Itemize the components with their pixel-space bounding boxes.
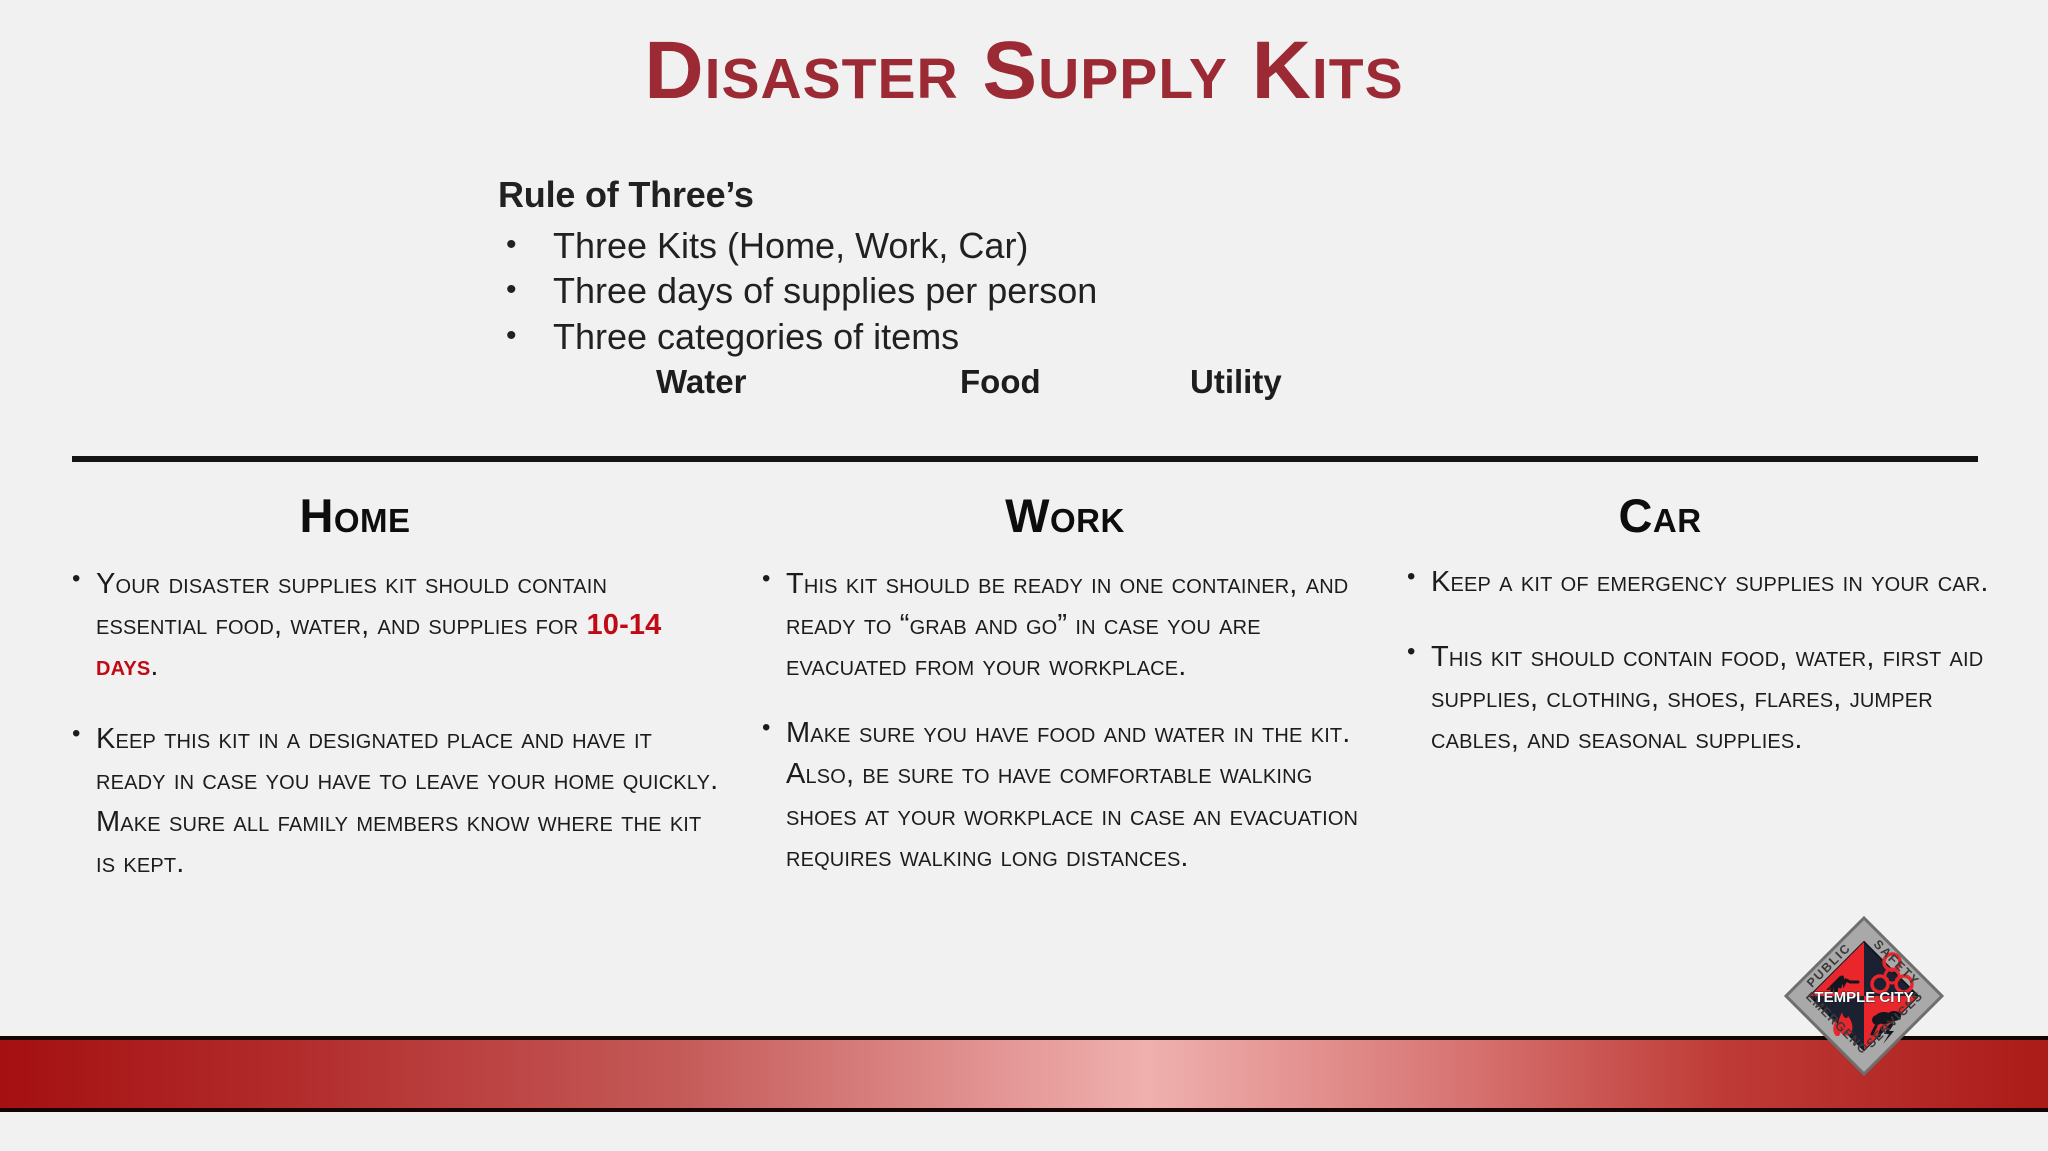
list-item-label: Three categories of items [553, 316, 959, 357]
column-work: Work •This kit should be ready in one co… [760, 490, 1380, 904]
column-header-work: Work [750, 490, 1380, 542]
list-item: •Your disaster supplies kit should conta… [70, 564, 720, 688]
bullet-list-work: •This kit should be ready in one contain… [760, 564, 1380, 878]
list-item: •Keep this kit in a designated place and… [70, 719, 720, 884]
bullet-icon: • [1407, 560, 1416, 594]
rule-of-threes-heading: Rule of Three’s [498, 172, 1398, 217]
list-item: •Make sure you have food and water in th… [760, 713, 1380, 878]
list-item: • Three Kits (Home, Work, Car) [498, 223, 1398, 268]
category-label-water: Water [656, 363, 746, 401]
bullet-list-home: •Your disaster supplies kit should conta… [70, 564, 720, 884]
list-item: •This kit should contain food, water, fi… [1405, 637, 2005, 761]
slide: Disaster Supply Kits Rule of Three’s • T… [0, 0, 2048, 1151]
list-item: • Three days of supplies per person [498, 268, 1398, 313]
list-item-text: Keep a kit of emergency supplies in your… [1431, 566, 1989, 598]
column-header-car: Car [1315, 490, 2005, 542]
bullet-icon: • [762, 562, 771, 596]
logo-diamond-icon: PUBLIC SAFETY EMERGENCY SERVICES TEMPLE … [1780, 912, 1948, 1080]
list-item-text: This kit should contain food, water, fir… [1431, 641, 1983, 755]
list-item-text-after: . [150, 650, 158, 682]
kit-columns: Home •Your disaster supplies kit should … [0, 490, 2048, 1050]
list-item: •This kit should be ready in one contain… [760, 564, 1380, 688]
category-label-food: Food [960, 363, 1041, 401]
column-car: Car •Keep a kit of emergency supplies in… [1405, 490, 2005, 794]
column-home: Home •Your disaster supplies kit should … [70, 490, 720, 916]
list-item: • Three categories of items [498, 314, 1398, 359]
rule-of-threes-block: Rule of Three’s • Three Kits (Home, Work… [498, 172, 1398, 359]
temple-city-emergency-services-logo: PUBLIC SAFETY EMERGENCY SERVICES TEMPLE … [1780, 912, 1948, 1080]
bullet-icon: • [762, 711, 771, 745]
list-item-text: This kit should be ready in one containe… [786, 568, 1348, 682]
section-divider [72, 456, 1978, 462]
page-title: Disaster Supply Kits [0, 28, 2048, 114]
list-item-text: Your disaster supplies kit should contai… [96, 568, 607, 641]
category-label-utility: Utility [1190, 363, 1282, 401]
logo-center-label: TEMPLE CITY [1814, 989, 1913, 1006]
list-item-label: Three days of supplies per person [553, 270, 1097, 311]
bullet-icon: • [506, 314, 517, 358]
list-item-text: Keep this kit in a designated place and … [96, 723, 718, 879]
bullet-icon: • [72, 562, 81, 596]
category-row: Water Food Utility [600, 363, 1400, 411]
bullet-icon: • [506, 223, 517, 267]
rule-of-threes-list: • Three Kits (Home, Work, Car) • Three d… [498, 223, 1398, 359]
footer-gradient-bar [0, 1036, 2048, 1112]
list-item-text: Make sure you have food and water in the… [786, 717, 1358, 873]
list-item-label: Three Kits (Home, Work, Car) [553, 225, 1028, 266]
bullet-icon: • [506, 268, 517, 312]
bullet-list-car: •Keep a kit of emergency supplies in you… [1405, 562, 2005, 761]
bullet-icon: • [1407, 635, 1416, 669]
column-header-home: Home [0, 490, 720, 542]
list-item: •Keep a kit of emergency supplies in you… [1405, 562, 2005, 603]
bullet-icon: • [72, 717, 81, 751]
